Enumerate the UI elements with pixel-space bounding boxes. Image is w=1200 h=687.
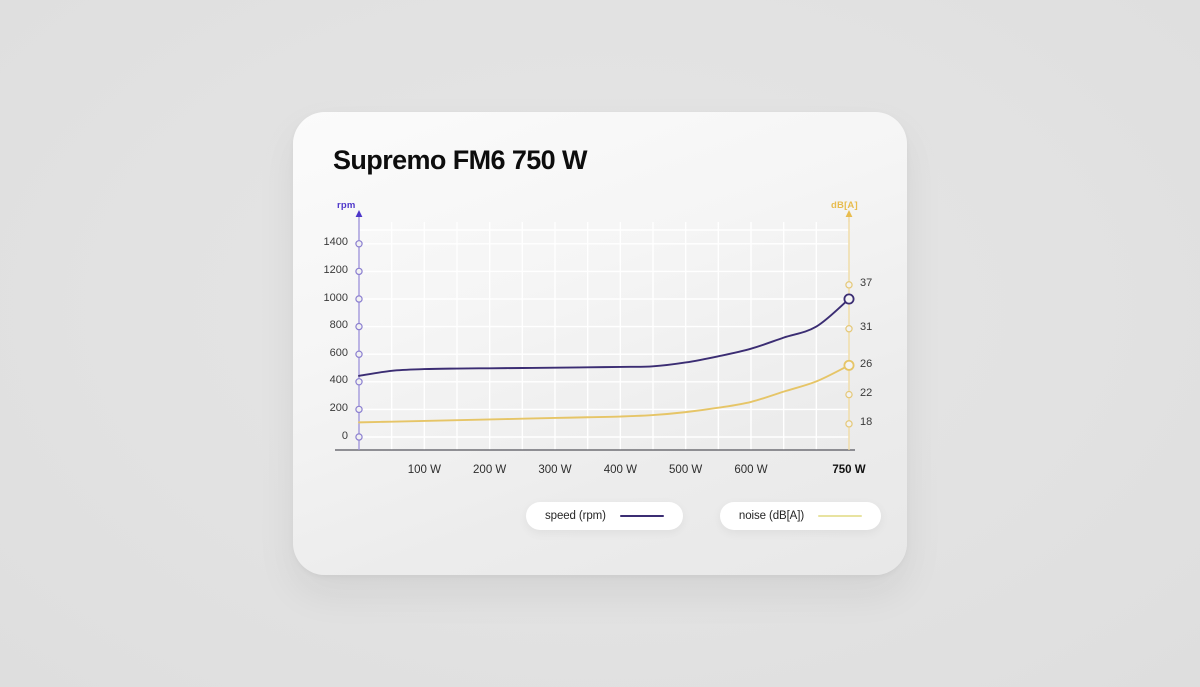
right-axis-tick-label: 26 — [860, 358, 872, 370]
right-axis-tick-label: 18 — [860, 416, 872, 428]
left-axis-tick-marker — [356, 268, 362, 274]
left-axis-tick-marker — [356, 296, 362, 302]
left-axis-tick-label: 0 — [301, 430, 348, 442]
right-axis-tick-label: 22 — [860, 387, 872, 399]
legend-item[interactable]: noise (dB[A]) — [720, 502, 881, 530]
legend-item[interactable]: speed (rpm) — [526, 502, 683, 530]
series-layer — [359, 294, 854, 422]
gridlines — [359, 222, 849, 450]
right-axis-tick-marker — [846, 391, 852, 397]
x-axis-tick-label: 500 W — [651, 464, 721, 476]
x-axis-tick-label: 400 W — [585, 464, 655, 476]
chart-card: Supremo FM6 750 W rpm dB[A] 020040060080… — [293, 112, 907, 575]
right-axis-tick-marker — [846, 282, 852, 288]
series-line — [359, 299, 849, 376]
series-line — [359, 365, 849, 422]
left-axis-tick-marker — [356, 241, 362, 247]
left-axis-tick-marker — [356, 351, 362, 357]
right-axis-tick-label: 37 — [860, 277, 872, 289]
series-endpoint-marker — [844, 361, 853, 370]
legend-item-label: speed (rpm) — [545, 510, 606, 522]
legend-item-label: noise (dB[A]) — [739, 510, 804, 522]
left-axis-tick-label: 600 — [301, 347, 348, 359]
right-axis-tick-marker — [846, 326, 852, 332]
left-axis-tick-marker — [356, 434, 362, 440]
left-axis-tick-marker — [356, 379, 362, 385]
left-axis — [356, 210, 363, 450]
left-axis-tick-label: 1000 — [301, 292, 348, 304]
right-axis-tick-marker — [846, 421, 852, 427]
legend-color-swatch — [620, 515, 664, 517]
left-axis-tick-label: 400 — [301, 374, 348, 386]
x-axis-tick-label: 750 W — [814, 464, 884, 476]
x-axis-tick-label: 300 W — [520, 464, 590, 476]
right-axis-tick-label: 31 — [860, 321, 872, 333]
left-axis-tick-label: 1200 — [301, 264, 348, 276]
legend-color-swatch — [818, 515, 862, 517]
left-axis-tick-marker — [356, 324, 362, 330]
left-axis-tick-label: 200 — [301, 402, 348, 414]
left-axis-arrow — [356, 210, 363, 217]
right-axis — [846, 210, 853, 450]
left-axis-tick-label: 1400 — [301, 236, 348, 248]
x-axis-tick-label: 200 W — [455, 464, 525, 476]
series-endpoint-marker — [844, 294, 853, 303]
x-axis-tick-label: 100 W — [389, 464, 459, 476]
chart-legend: speed (rpm)noise (dB[A]) — [526, 502, 881, 530]
left-axis-tick-marker — [356, 406, 362, 412]
right-axis-arrow — [846, 210, 853, 217]
left-axis-tick-label: 800 — [301, 319, 348, 331]
x-axis-tick-label: 600 W — [716, 464, 786, 476]
